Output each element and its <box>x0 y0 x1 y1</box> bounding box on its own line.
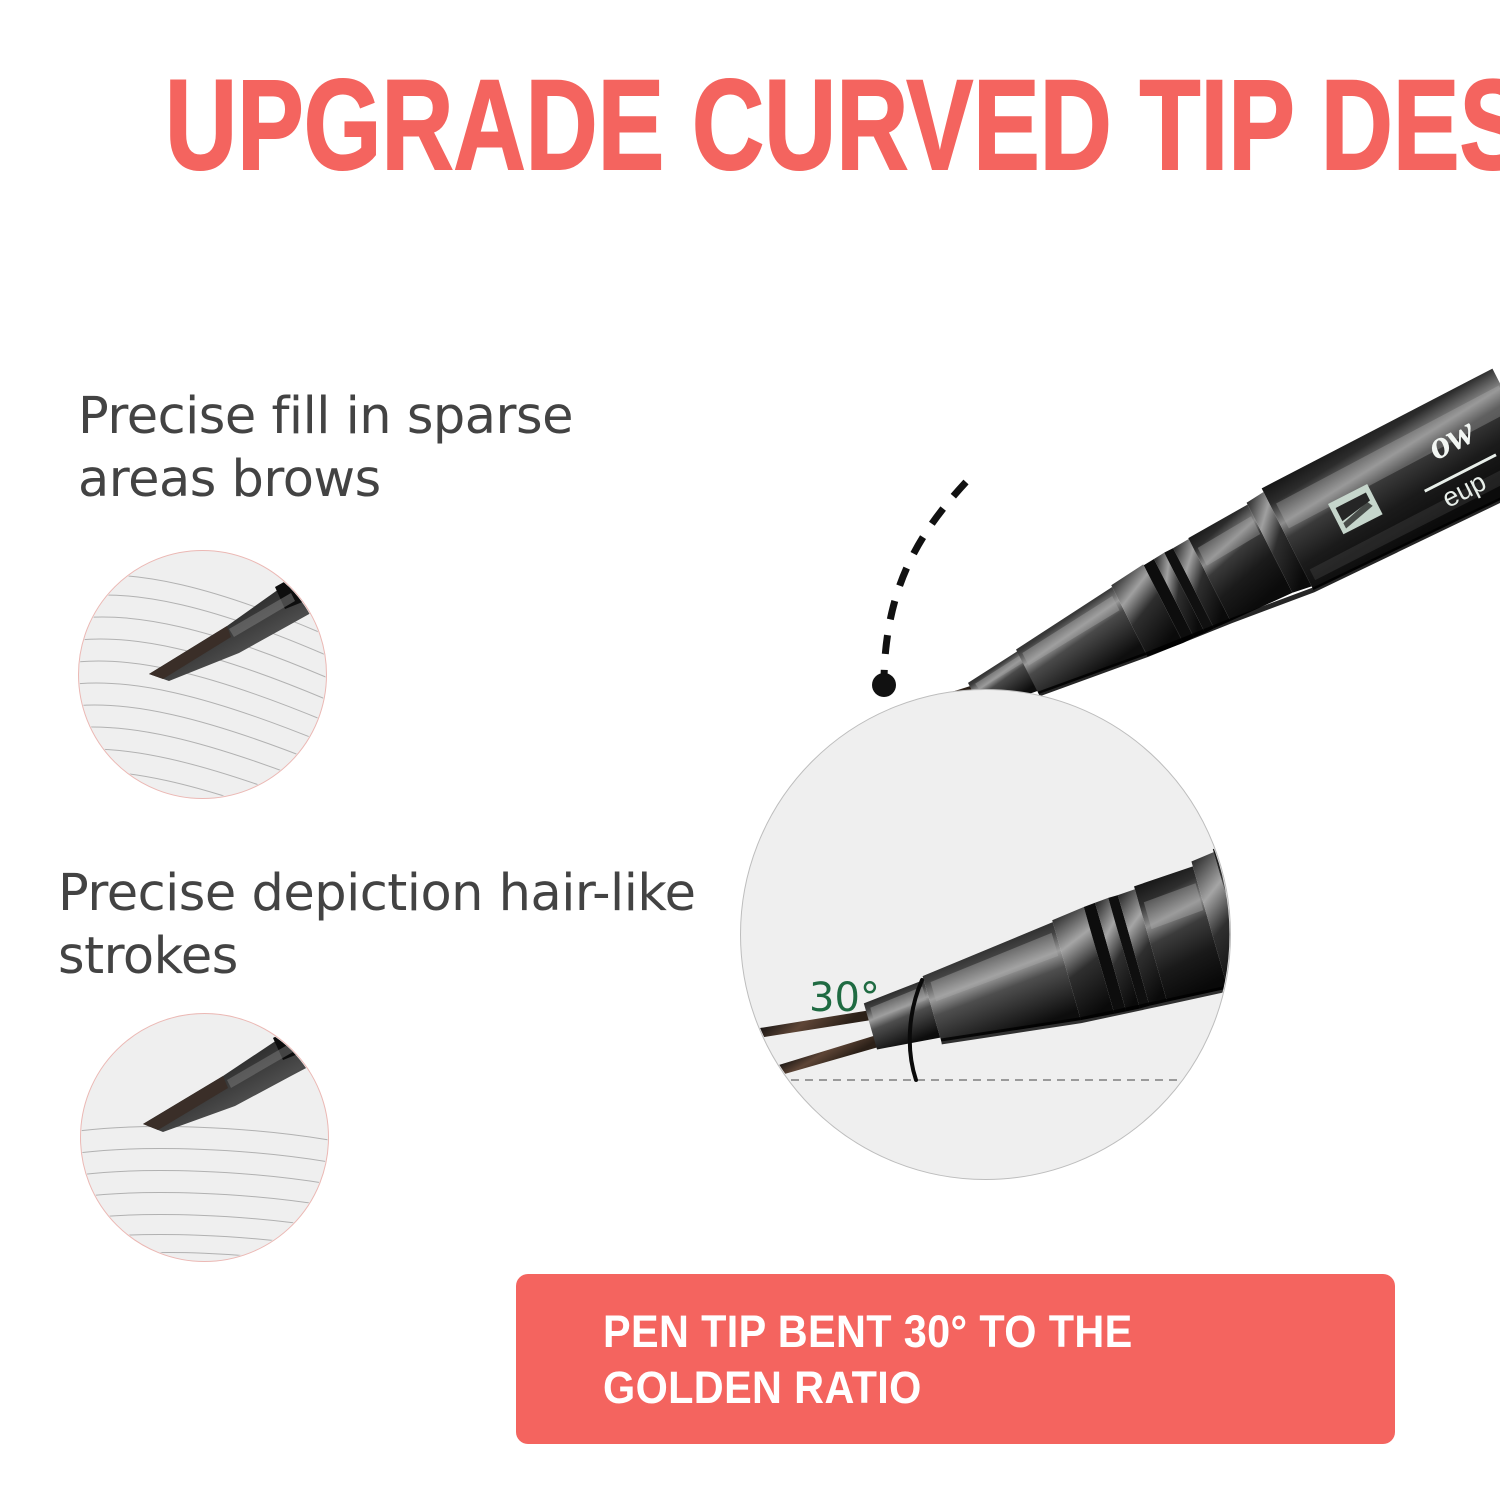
magnifier-content <box>741 690 1230 1179</box>
swatch-hairline-group <box>79 551 326 798</box>
tagline-line-1: PEN TIP BENT 30° TO THE <box>603 1304 1332 1360</box>
tagline-line-2: GOLDEN RATIO <box>603 1360 1332 1416</box>
pen-tip-magnifier <box>740 689 1231 1180</box>
page-title: UPGRADE CURVED TIP DESIGN <box>165 62 1335 190</box>
feature-label-sparse-fill: Precise fill in sparse areas brows <box>78 385 718 511</box>
angle-value-label: 30° <box>809 975 880 1021</box>
tagline-banner: PEN TIP BENT 30° TO THE GOLDEN RATIO <box>516 1274 1395 1444</box>
feature-label-hair-strokes: Precise depiction hair-like strokes <box>58 862 698 988</box>
infographic-canvas: UPGRADE CURVED TIP DESIGN Precise fill i… <box>0 0 1500 1500</box>
brow-hair-curves-swatch <box>78 550 327 799</box>
hair-stroke-lines-swatch <box>80 1013 329 1262</box>
swatch-strokeline-group <box>81 1014 328 1261</box>
